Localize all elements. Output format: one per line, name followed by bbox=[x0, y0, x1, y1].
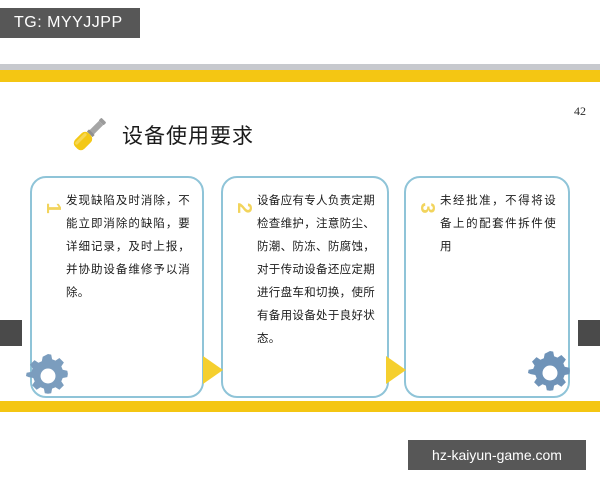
site-watermark: hz-kaiyun-game.com bbox=[408, 440, 586, 470]
right-edge-marker bbox=[578, 320, 600, 346]
box-text-1: 发现缺陷及时消除，不能立即消除的缺陷，要详细记录，及时上报，并协助设备维修予以消… bbox=[66, 190, 190, 305]
left-edge-marker bbox=[0, 320, 22, 346]
box-text-3: 未经批准，不得将设备上的配套件拆件使用 bbox=[440, 190, 556, 259]
box-text-2: 设备应有专人负责定期检查维护，注意防尘、防潮、防冻、防腐蚀，对于传动设备还应定期… bbox=[257, 190, 375, 351]
slide-top-yellow-bar bbox=[0, 70, 600, 82]
content-box-2[interactable]: 2 设备应有专人负责定期检查维护，注意防尘、防潮、防冻、防腐蚀，对于传动设备还应… bbox=[221, 176, 389, 398]
box-number-1: 1 bbox=[43, 199, 63, 217]
arrow-right-icon-1 bbox=[203, 356, 223, 384]
gear-icon-left bbox=[22, 350, 74, 402]
gear-icon-right bbox=[524, 347, 576, 399]
box-number-3: 3 bbox=[417, 199, 437, 217]
tg-badge: TG: MYYJJPP bbox=[0, 8, 140, 38]
box-number-2: 2 bbox=[234, 199, 254, 217]
slide-bottom-yellow-bar bbox=[0, 401, 600, 412]
slide-body: 42 设备使用要求 1 发现缺陷及时消 bbox=[0, 82, 600, 401]
slide-page: TG: MYYJJPP 42 设备使用要求 bbox=[0, 0, 600, 480]
arrow-right-icon-2 bbox=[386, 356, 406, 384]
content-boxes: 1 发现缺陷及时消除，不能立即消除的缺陷，要详细记录，及时上报，并协助设备维修予… bbox=[0, 82, 600, 401]
presentation-slide: 42 设备使用要求 1 发现缺陷及时消 bbox=[0, 64, 600, 416]
